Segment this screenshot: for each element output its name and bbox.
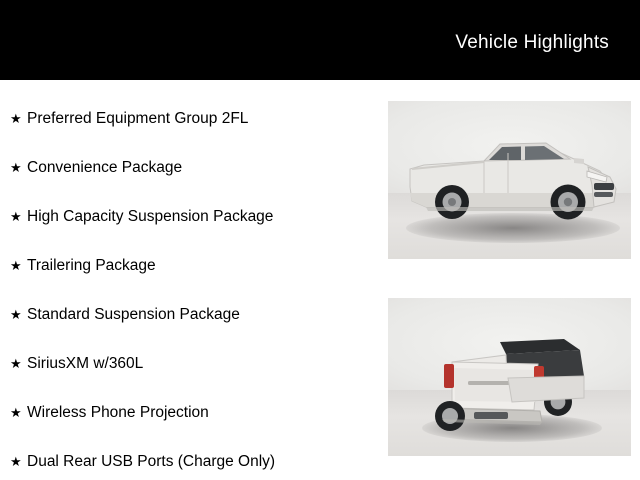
list-item: ★ High Capacity Suspension Package bbox=[10, 192, 380, 241]
truck-rear-illustration bbox=[388, 298, 631, 456]
feature-label: Convenience Package bbox=[27, 143, 182, 192]
vehicle-highlights-page: Vehicle Highlights ★ Preferred Equipment… bbox=[0, 0, 640, 480]
feature-label: SiriusXM w/360L bbox=[27, 339, 143, 388]
truck-front-three-quarter-photo bbox=[388, 101, 631, 259]
list-item: ★ Standard Suspension Package bbox=[10, 290, 380, 339]
truck-rear-three-quarter-photo bbox=[388, 298, 631, 456]
footer-strip bbox=[0, 472, 640, 480]
truck-front-illustration bbox=[388, 101, 631, 259]
page-title: Vehicle Highlights bbox=[455, 26, 640, 54]
header-bar: Vehicle Highlights bbox=[0, 0, 640, 80]
feature-label: Trailering Package bbox=[27, 241, 156, 290]
star-icon: ★ bbox=[10, 339, 27, 388]
star-icon: ★ bbox=[10, 388, 27, 437]
star-icon: ★ bbox=[10, 290, 27, 339]
list-item: ★ Convenience Package bbox=[10, 143, 380, 192]
star-icon: ★ bbox=[10, 192, 27, 241]
star-icon: ★ bbox=[10, 94, 27, 143]
feature-label: Preferred Equipment Group 2FL bbox=[27, 94, 248, 143]
feature-list: ★ Preferred Equipment Group 2FL ★ Conven… bbox=[0, 80, 380, 480]
list-item: ★ Wireless Phone Projection bbox=[10, 388, 380, 437]
list-item: ★ Trailering Package bbox=[10, 241, 380, 290]
feature-label: High Capacity Suspension Package bbox=[27, 192, 273, 241]
list-item: ★ Preferred Equipment Group 2FL bbox=[10, 94, 380, 143]
feature-label: Standard Suspension Package bbox=[27, 290, 240, 339]
list-item: ★ SiriusXM w/360L bbox=[10, 339, 380, 388]
star-icon: ★ bbox=[10, 143, 27, 192]
page-body: ★ Preferred Equipment Group 2FL ★ Conven… bbox=[0, 80, 640, 480]
star-icon: ★ bbox=[10, 241, 27, 290]
feature-label: Wireless Phone Projection bbox=[27, 388, 209, 437]
